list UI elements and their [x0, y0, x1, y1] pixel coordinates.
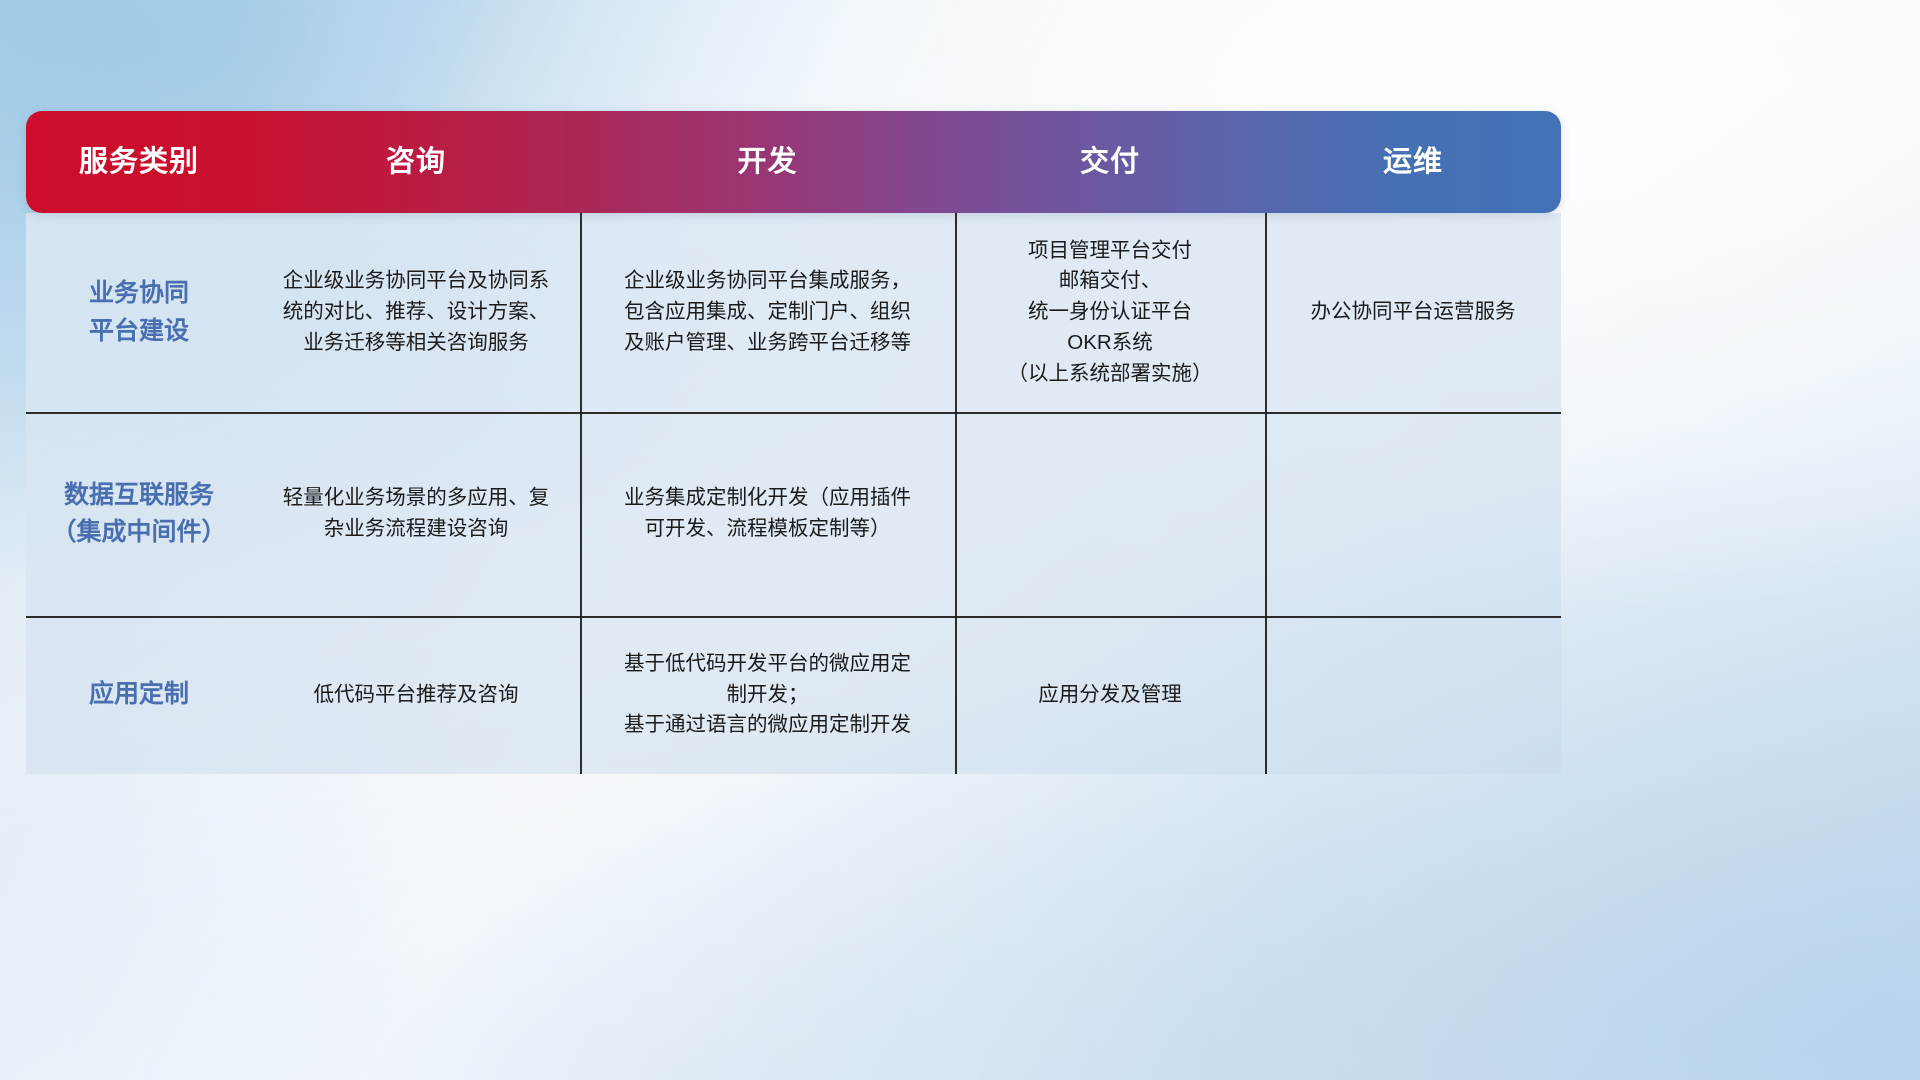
row-divider-2 — [26, 616, 1561, 618]
table-row: 应用定制 低代码平台推荐及咨询 基于低代码开发平台的微应用定 制开发； 基于通过… — [26, 616, 1561, 774]
cell-delivery — [955, 510, 1265, 518]
row-label-cell: 数据互联服务 （集成中间件） — [26, 473, 252, 556]
row-label-cell: 业务协同 平台建设 — [26, 271, 252, 354]
cell-development: 企业级业务协同平台集成服务， 包含应用集成、定制门户、组织 及账户管理、业务跨平… — [580, 262, 955, 362]
cell-consulting: 低代码平台推荐及咨询 — [252, 676, 580, 715]
row-label-cell: 应用定制 — [26, 672, 252, 718]
row-divider-1 — [26, 412, 1561, 414]
service-matrix-table: 服务类别 咨询 开发 交付 运维 业务协同 平台建设 企业级业务协同平台及协同系… — [26, 111, 1561, 774]
cell-consulting: 企业级业务协同平台及协同系 统的对比、推荐、设计方案、 业务迁移等相关咨询服务 — [252, 262, 580, 362]
cell-delivery: 应用分发及管理 — [955, 676, 1265, 715]
column-divider-3 — [1265, 213, 1267, 774]
cell-operations — [1265, 691, 1561, 699]
table-header-cell-delivery: 交付 — [955, 148, 1265, 177]
cell-operations: 办公协同平台运营服务 — [1265, 293, 1561, 332]
table-row: 数据互联服务 （集成中间件） 轻量化业务场景的多应用、复 杂业务流程建设咨询 业… — [26, 412, 1561, 616]
cell-development: 业务集成定制化开发（应用插件 可开发、流程模板定制等） — [580, 479, 955, 549]
table-header-cell-operations: 运维 — [1265, 148, 1561, 177]
table-header-cell-development: 开发 — [580, 148, 955, 177]
table-header-row: 服务类别 咨询 开发 交付 运维 — [26, 111, 1561, 213]
column-divider-2 — [955, 213, 957, 774]
table-header-cell-consulting: 咨询 — [252, 148, 580, 177]
table-header-cell-category: 服务类别 — [26, 148, 252, 177]
cell-development: 基于低代码开发平台的微应用定 制开发； 基于通过语言的微应用定制开发 — [580, 645, 955, 745]
cell-consulting: 轻量化业务场景的多应用、复 杂业务流程建设咨询 — [252, 479, 580, 549]
table-row: 业务协同 平台建设 企业级业务协同平台及协同系 统的对比、推荐、设计方案、 业务… — [26, 213, 1561, 412]
cell-operations — [1265, 510, 1561, 518]
cell-delivery: 项目管理平台交付 邮箱交付、 统一身份认证平台 OKR系统 （以上系统部署实施） — [955, 232, 1265, 394]
column-divider-1 — [580, 213, 582, 774]
